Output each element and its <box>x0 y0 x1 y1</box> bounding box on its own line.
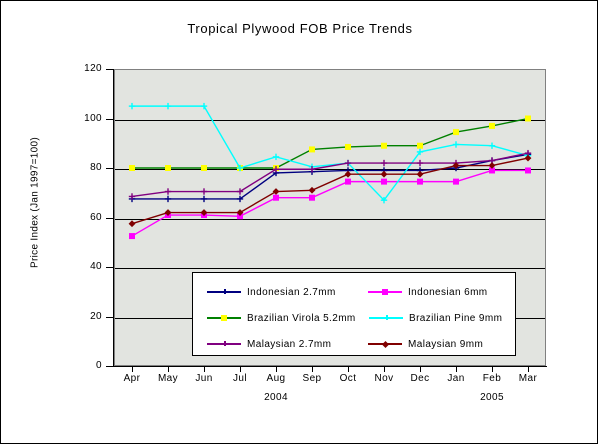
data-point-marker <box>417 160 423 166</box>
legend-label: Brazilian Virola 5.2mm <box>247 313 356 324</box>
data-point-marker <box>129 220 136 227</box>
series-1 <box>129 167 531 239</box>
data-point-marker <box>129 165 135 171</box>
legend-item-brazilian-pine-9mm: Brazilian Pine 9mm <box>355 313 515 324</box>
series-line <box>132 106 528 200</box>
data-point-marker <box>165 188 171 194</box>
data-point-marker <box>345 144 351 150</box>
data-point-marker <box>309 187 316 194</box>
legend-label: Indonesian 2.7mm <box>247 287 336 298</box>
legend-marker-cross <box>224 289 226 294</box>
data-point-marker <box>381 160 387 166</box>
data-point-marker <box>453 141 459 147</box>
data-point-marker <box>417 143 423 149</box>
data-point-marker <box>309 146 315 152</box>
data-point-marker <box>201 188 207 194</box>
legend-item-indonesian-27mm: Indonesian 2.7mm <box>193 287 354 298</box>
data-point-marker <box>165 103 171 109</box>
data-point-marker <box>237 188 243 194</box>
legend-item-malaysian-27mm: Malaysian 2.7mm <box>193 339 354 350</box>
legend-swatch-icon <box>368 287 402 297</box>
legend-marker-icon <box>222 343 227 345</box>
data-point-marker <box>381 179 387 185</box>
data-point-marker <box>201 103 207 109</box>
data-point-marker <box>453 129 459 135</box>
data-point-marker <box>201 196 207 202</box>
series-line <box>132 119 528 169</box>
legend-marker-cross <box>224 341 226 346</box>
data-point-marker <box>417 179 423 185</box>
legend-item-brazilian-virola-52mm: Brazilian Virola 5.2mm <box>193 313 355 324</box>
legend-label: Indonesian 6mm <box>408 287 488 298</box>
chart-page: Tropical Plywood FOB Price Trends Price … <box>0 0 598 444</box>
legend-row: Brazilian Virola 5.2mm Brazilian Pine 9m… <box>193 305 515 331</box>
legend-marker-icon <box>382 289 388 295</box>
data-point-marker <box>129 233 135 239</box>
legend-label: Malaysian 2.7mm <box>247 339 331 350</box>
legend-swatch-icon <box>369 313 403 323</box>
data-point-marker <box>273 195 279 201</box>
legend-marker-cross <box>386 315 388 320</box>
legend-swatch-icon <box>207 313 241 323</box>
legend-row: Malaysian 2.7mm Malaysian 9mm <box>193 331 515 357</box>
legend-label: Brazilian Pine 9mm <box>409 313 502 324</box>
data-point-marker <box>453 179 459 185</box>
legend-marker-icon <box>222 291 227 293</box>
data-point-marker <box>345 171 352 178</box>
series-line <box>132 170 528 236</box>
data-point-marker <box>417 171 424 178</box>
data-point-marker <box>309 195 315 201</box>
data-point-marker <box>165 196 171 202</box>
series-4 <box>129 150 531 200</box>
legend-marker-icon <box>384 317 389 319</box>
data-point-marker <box>381 171 388 178</box>
legend-row: Indonesian 2.7mm Indonesian 6mm <box>193 279 515 305</box>
data-point-marker <box>525 167 531 173</box>
data-point-marker <box>381 143 387 149</box>
legend-item-malaysian-9mm: Malaysian 9mm <box>354 339 515 350</box>
legend-swatch-icon <box>207 339 241 349</box>
data-point-marker <box>129 103 135 109</box>
series-layer <box>1 1 599 445</box>
data-point-marker <box>273 154 279 160</box>
data-point-marker <box>489 143 495 149</box>
data-point-marker <box>165 165 171 171</box>
data-point-marker <box>201 165 207 171</box>
legend-item-indonesian-6mm: Indonesian 6mm <box>354 287 515 298</box>
series-3 <box>129 103 531 203</box>
data-point-marker <box>345 179 351 185</box>
legend-marker-icon <box>382 340 389 347</box>
legend-swatch-icon <box>368 339 402 349</box>
legend-swatch-icon <box>207 287 241 297</box>
legend: Indonesian 2.7mm Indonesian 6mm Brazilia… <box>192 272 516 356</box>
series-line <box>132 154 528 199</box>
legend-marker-icon <box>221 315 227 321</box>
data-point-marker <box>273 188 280 195</box>
legend-label: Malaysian 9mm <box>408 339 483 350</box>
data-point-marker <box>489 123 495 129</box>
data-point-marker <box>525 116 531 122</box>
